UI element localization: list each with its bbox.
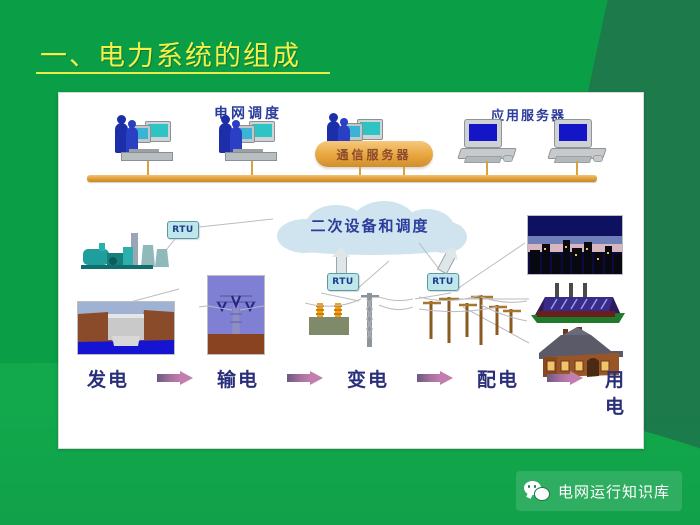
flow-step-transmission: 输电 <box>217 365 259 392</box>
keyboard-icon <box>554 156 592 163</box>
mouse-icon <box>593 155 603 162</box>
title-underline <box>36 72 330 74</box>
flow-arrow-3 <box>417 371 453 384</box>
image-thermal-power-plant <box>79 221 171 283</box>
label-comm-server: 通信服务器 <box>315 146 433 163</box>
flow-arrow-1 <box>157 371 193 384</box>
flow-step-distribution: 配电 <box>477 365 519 392</box>
operator-desk-1 <box>113 119 171 161</box>
crt-monitor-icon <box>554 119 592 148</box>
app-server-pc-1 <box>459 119 513 163</box>
label-cloud: 二次设备和调度 <box>271 215 469 236</box>
image-city-skyline <box>527 215 623 275</box>
process-flow: 发电 输电 变电 配电 用电 <box>59 365 643 405</box>
crt-monitor-icon <box>464 119 502 148</box>
uplink-arrow <box>437 252 456 275</box>
image-transmission-tower <box>207 275 265 355</box>
operator-desk-2 <box>217 119 275 161</box>
app-server-pc-2 <box>549 119 603 163</box>
wechat-icon <box>524 481 550 501</box>
mouse-icon <box>503 155 513 162</box>
communication-bus <box>87 175 597 182</box>
diagram-panel: 电网调度 应用服务器 <box>58 92 644 449</box>
watermark: 电网运行知识库 <box>516 471 682 511</box>
slide-root: 一、电力系统的组成 电网调度 应用服务器 <box>0 0 700 525</box>
page-title: 一、电力系统的组成 <box>40 34 301 73</box>
image-distribution-poles <box>419 287 527 349</box>
desk-surface <box>121 152 173 161</box>
image-factory <box>529 283 625 331</box>
image-substation-transformer <box>305 289 413 351</box>
flow-step-generation: 发电 <box>87 365 129 392</box>
keyboard-icon <box>464 156 502 163</box>
watermark-text: 电网运行知识库 <box>558 481 670 502</box>
flow-step-substation: 变电 <box>347 365 389 392</box>
image-hydro-dam <box>77 301 175 355</box>
uplink-arrow <box>336 255 347 275</box>
flow-arrow-4 <box>547 371 583 384</box>
desk-surface <box>225 152 277 161</box>
flow-step-consumption: 用电 <box>605 365 643 419</box>
flow-arrow-2 <box>287 371 323 384</box>
rtu-box-1: RTU <box>167 221 199 239</box>
